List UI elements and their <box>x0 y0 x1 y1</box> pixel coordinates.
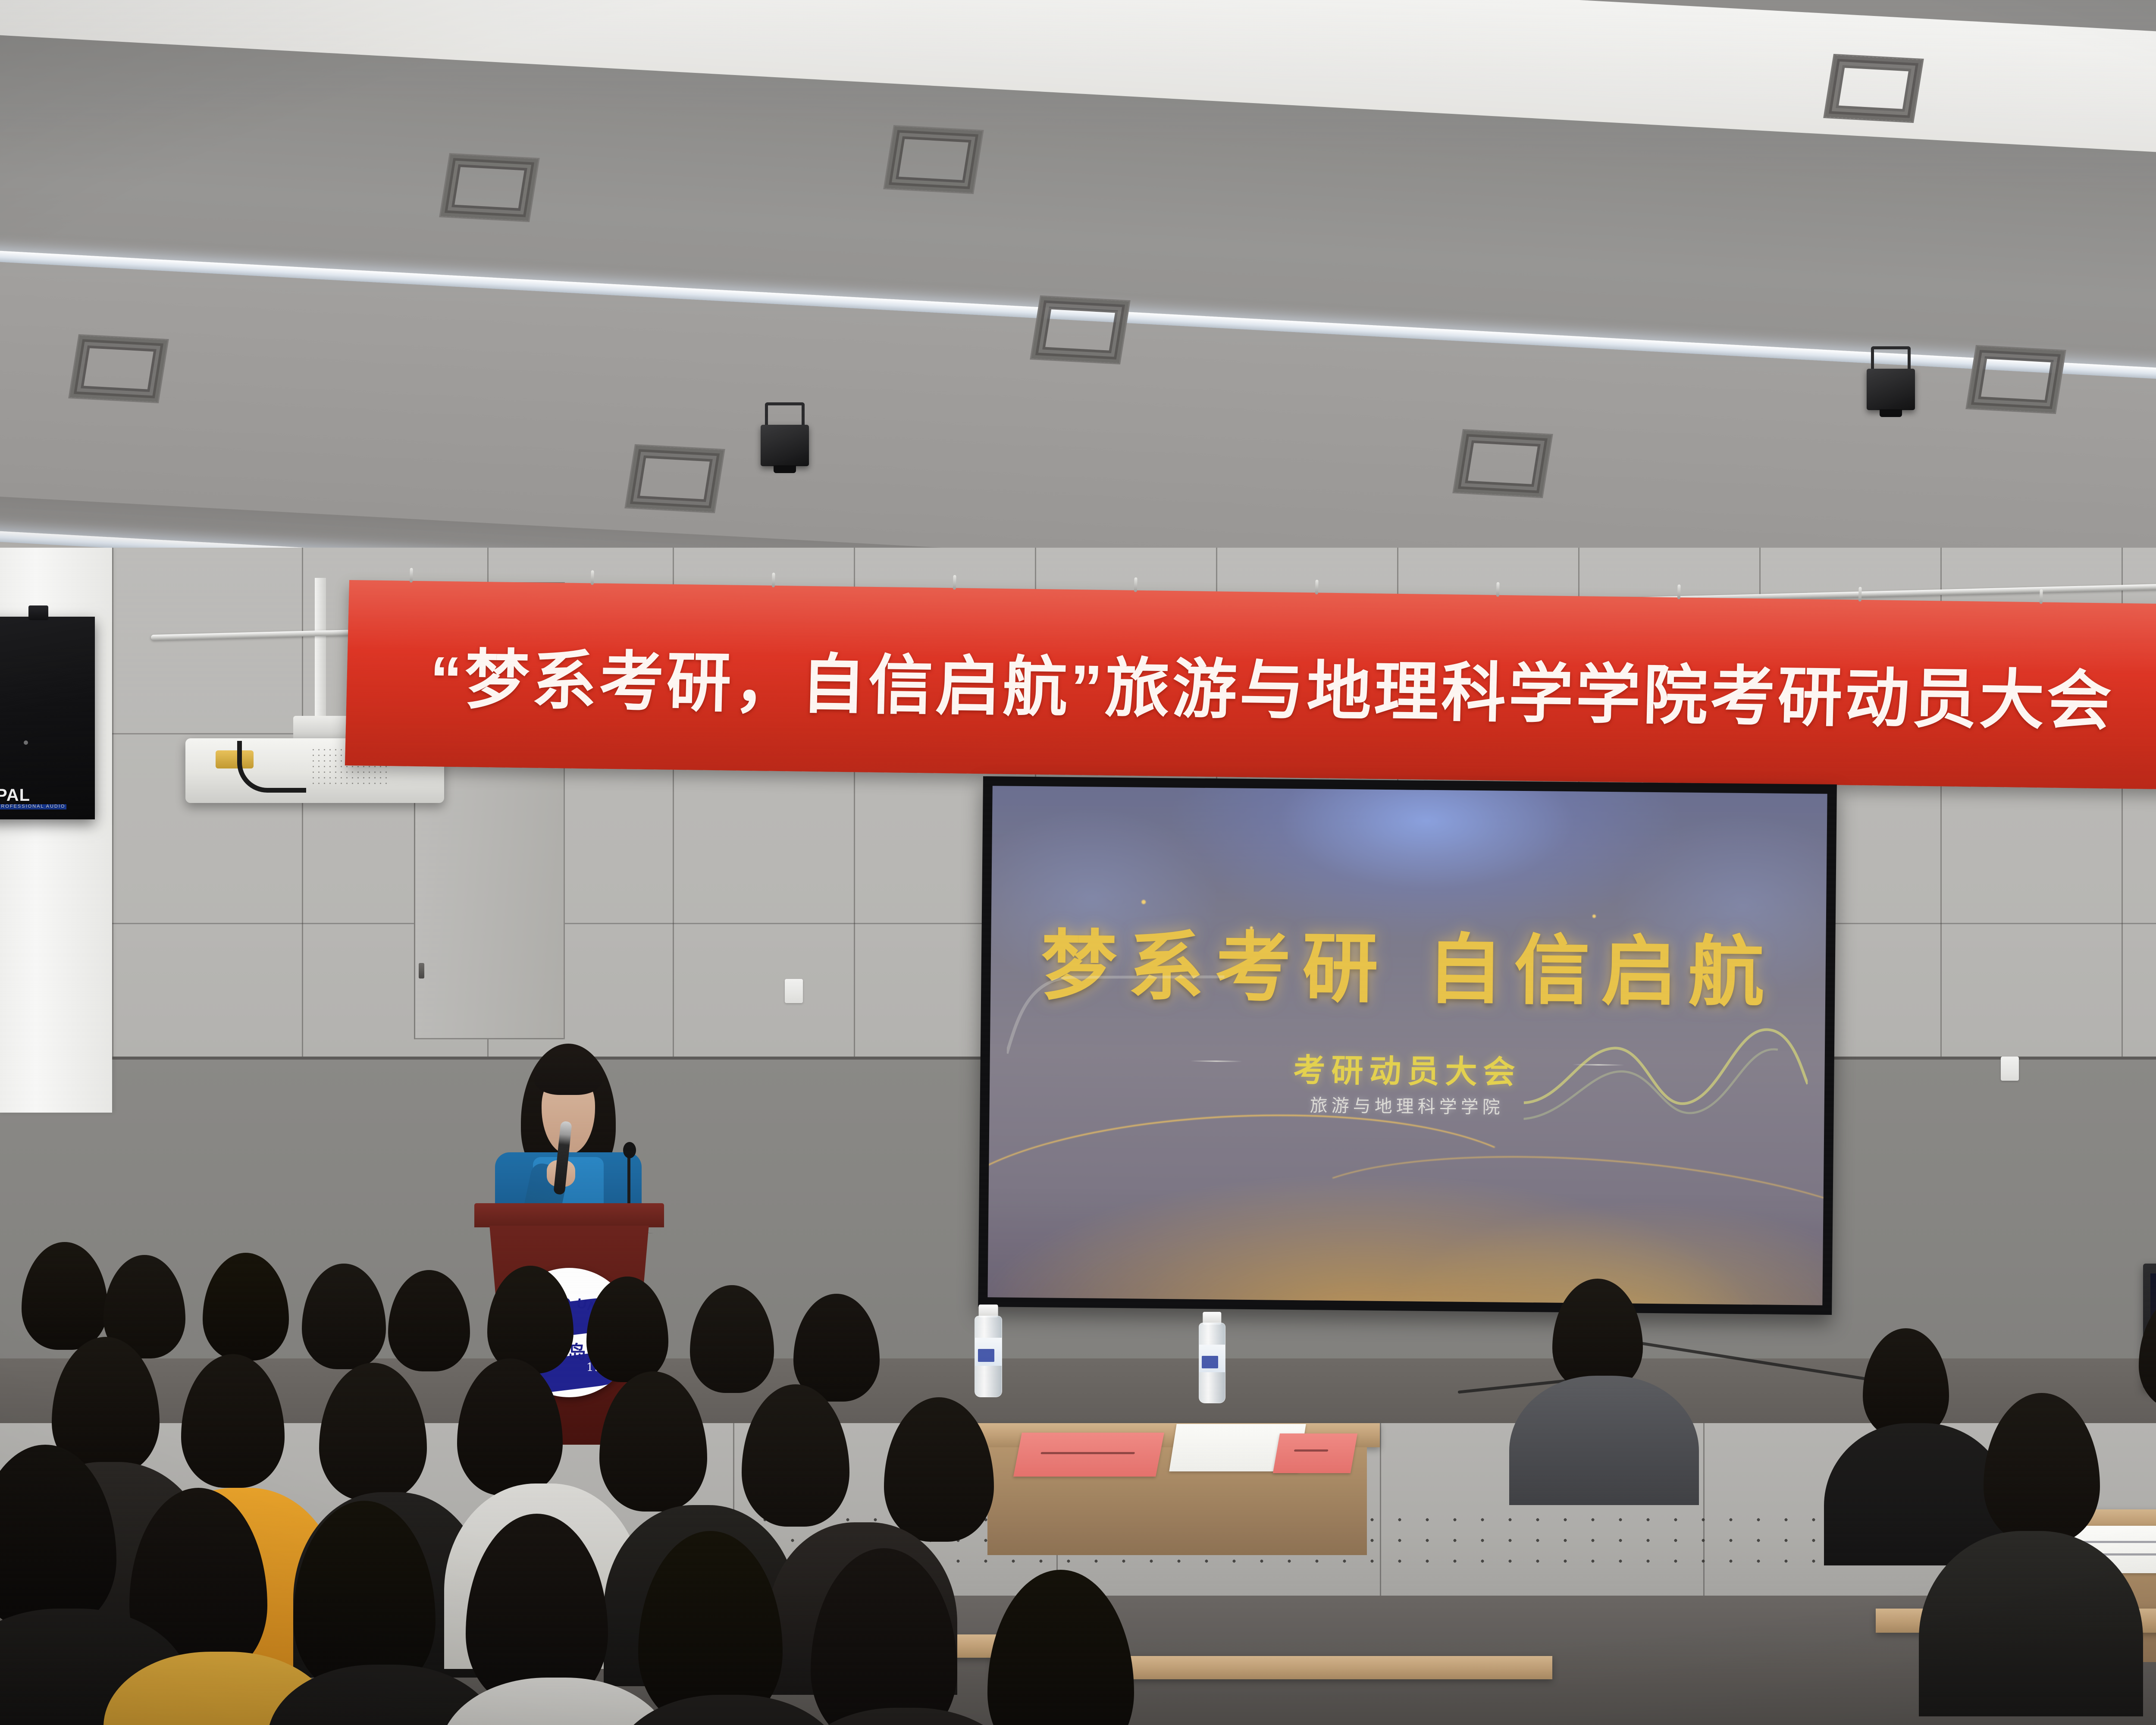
audience-head <box>793 1294 880 1402</box>
audience-head <box>22 1242 108 1350</box>
desk-red-paper <box>1013 1433 1164 1477</box>
audience-head <box>690 1285 774 1393</box>
audience-head <box>457 1358 563 1496</box>
audience-jacket <box>1919 1531 2143 1716</box>
audience-head <box>487 1266 573 1374</box>
audience-shoulders <box>1509 1376 1699 1505</box>
audience-head <box>1863 1328 1949 1438</box>
audience-head <box>1984 1393 2100 1544</box>
audience-head <box>599 1371 707 1512</box>
hvac-vent-icon <box>1965 345 2066 414</box>
pa-speaker-left: PAL PROFESSIONAL AUDIO <box>0 617 95 819</box>
audience-head <box>302 1264 386 1369</box>
power-outlet <box>2001 1057 2019 1081</box>
audience-head <box>388 1270 470 1371</box>
projector-pole <box>315 578 326 720</box>
audience-head <box>742 1384 849 1527</box>
audience-head <box>987 1570 1134 1725</box>
audience-head <box>586 1276 668 1382</box>
slide-spark <box>1142 900 1146 904</box>
hvac-vent-icon <box>624 444 725 513</box>
ceiling <box>0 0 2156 604</box>
water-bottle <box>1199 1312 1225 1403</box>
projection-screen: 梦系考研 自信启航 考研动员大会 旅游与地理科学学院 <box>987 786 1827 1305</box>
pa-brand-label: PAL <box>0 786 30 805</box>
podium-top <box>474 1203 664 1227</box>
hvac-vent-icon <box>439 153 540 222</box>
audience-head <box>319 1363 427 1501</box>
hvac-vent-icon <box>1030 295 1131 364</box>
audience-head <box>181 1354 285 1488</box>
lecture-hall-scene: PAL PROFESSIONAL AUDIO PAL PROFESSIONAL … <box>0 0 2156 1725</box>
audience-head <box>884 1397 994 1542</box>
projector-cable <box>237 741 306 793</box>
slide-wave-graphic <box>1523 995 1808 1141</box>
gooseneck-mic-capsule <box>623 1142 636 1158</box>
audience: 梦系考研 自信启航 考研动员大会 <box>0 1229 2156 1725</box>
hvac-vent-icon <box>68 334 169 403</box>
event-banner: “梦系考研，自信启航”旅游与地理科学学院考研动员大会 <box>345 580 2156 790</box>
banner-text: “梦系考研，自信启航”旅游与地理科学学院考研动员大会 <box>346 626 2156 743</box>
hvac-vent-icon <box>1452 429 1553 498</box>
hvac-vent-icon <box>883 125 984 194</box>
audience-head <box>203 1253 289 1361</box>
desk-red-paper <box>1273 1433 1357 1473</box>
water-bottle <box>975 1305 1002 1397</box>
pa-subbrand-label: PROFESSIONAL AUDIO <box>0 804 66 809</box>
audience-head <box>1552 1279 1643 1391</box>
power-outlet <box>785 979 803 1003</box>
slide-spark <box>1592 914 1596 918</box>
slide-wave-graphic-left <box>1006 960 1225 1075</box>
hvac-vent-icon <box>1823 54 1924 123</box>
